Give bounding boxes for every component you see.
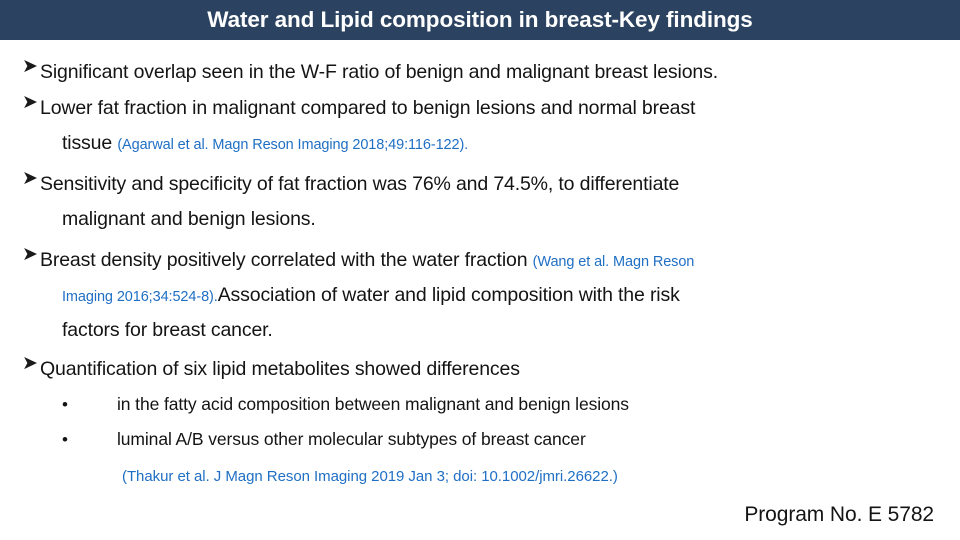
bullet-item-5: ➤ Quantification of six lipid metabolite… [0, 351, 940, 387]
citation-wang-part1: (Wang et al. Magn Reson [533, 254, 695, 270]
bullet-item-3-line2: malignant and benign lesions. [62, 204, 316, 234]
arrow-bullet-icon: ➤ [0, 242, 40, 268]
citation-wang-part2: Imaging 2016;34:524-8). [62, 289, 218, 305]
sub-bullet-item-1: • in the fatty acid composition between … [62, 392, 942, 417]
bullet-item-5-text: Quantification of six lipid metabolites … [40, 351, 520, 387]
bullet-item-4-line2: Imaging 2016;34:524-8).Association of wa… [62, 280, 680, 312]
bullet-item-3-text: Sensitivity and specificity of fat fract… [40, 166, 679, 202]
bullet-item-3: ➤ Sensitivity and specificity of fat fra… [0, 166, 940, 202]
page-title: Water and Lipid composition in breast-Ke… [207, 9, 752, 32]
sub-bullet-item-1-text: in the fatty acid composition between ma… [117, 392, 629, 416]
bullet-item-2: ➤ Lower fat fraction in malignant compar… [0, 90, 940, 126]
bullet-item-4-main: Breast density positively correlated wit… [40, 249, 533, 271]
dot-bullet-icon: • [62, 428, 117, 452]
bullet-item-4: ➤ Breast density positively correlated w… [0, 242, 940, 280]
bullet-item-4-line2-main: Association of water and lipid compositi… [218, 284, 680, 306]
bullet-item-4-line3: factors for breast cancer. [62, 315, 273, 345]
arrow-bullet-icon: ➤ [0, 54, 40, 80]
bullet-item-4-text: Breast density positively correlated wit… [40, 242, 694, 280]
arrow-bullet-icon: ➤ [0, 166, 40, 192]
slide-body: ➤ Significant overlap seen in the W-F ra… [0, 40, 960, 540]
program-number: Program No. E 5782 [744, 503, 934, 527]
bullet-item-2-text: Lower fat fraction in malignant compared… [40, 90, 695, 126]
slide-root: Water and Lipid composition in breast-Ke… [0, 0, 960, 540]
citation-thakur: (Thakur et al. J Magn Reson Imaging 2019… [122, 468, 618, 485]
bullet-item-1-text: Significant overlap seen in the W-F rati… [40, 54, 718, 90]
dot-bullet-icon: • [62, 393, 117, 417]
arrow-bullet-icon: ➤ [0, 90, 40, 116]
bullet-item-2-line2-text: tissue [62, 132, 117, 154]
sub-bullet-item-2-text: luminal A/B versus other molecular subty… [117, 427, 586, 451]
slide-title-bar: Water and Lipid composition in breast-Ke… [0, 0, 960, 40]
sub-bullet-item-2: • luminal A/B versus other molecular sub… [62, 427, 942, 452]
bullet-item-1: ➤ Significant overlap seen in the W-F ra… [0, 54, 940, 90]
bullet-item-2-line2: tissue (Agarwal et al. Magn Reson Imagin… [62, 128, 468, 160]
arrow-bullet-icon: ➤ [0, 351, 40, 377]
citation-agarwal: (Agarwal et al. Magn Reson Imaging 2018;… [117, 137, 468, 153]
